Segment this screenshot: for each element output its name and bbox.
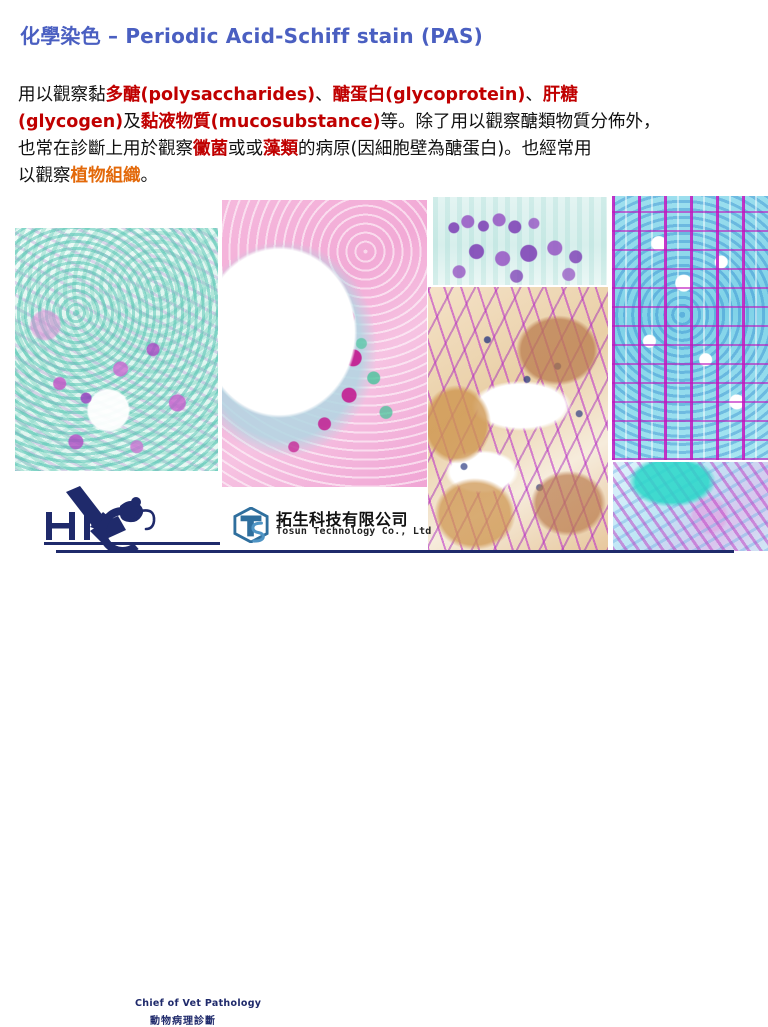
micrograph-trachea-cartilage: [222, 200, 427, 487]
hkc-tagline-zh: 動物病理診斷: [150, 1012, 216, 1027]
micrograph-intestine-goblet-cells: [433, 197, 607, 285]
micrograph-lung-mucin: [15, 228, 218, 471]
hkc-monogram-icon: [40, 486, 220, 552]
page-title: 化學染色 – Periodic Acid-Schiff stain (PAS): [20, 24, 740, 48]
body-line-2: (glycogen)及黏液物質(mucosubstance)等。除了用以觀察醣類…: [18, 109, 753, 136]
text-run-plain: 等。除了用以觀察醣類物質分佈外，: [380, 112, 660, 132]
text-run-plain: 、: [525, 85, 543, 105]
text-run-orange: 植物組織: [71, 166, 141, 186]
tosun-hexagon-ts-icon: [232, 507, 270, 543]
text-run-red: (glycogen): [18, 112, 123, 132]
tosun-technology-logo: 拓生科技有限公司 Tosun Technology Co., Ltd: [232, 503, 432, 547]
chief-of-vet-pathology-logo: Chief of Vet Pathology 動物病理診斷: [40, 486, 220, 552]
text-run-red: 黏液物質(mucosubstance): [141, 112, 381, 132]
text-run-plain: 的病原(因細胞壁為醣蛋白)。也經常用: [298, 139, 592, 159]
tosun-name-en: Tosun Technology Co., Ltd: [276, 526, 432, 537]
body-paragraph: 用以觀察黏多醣(polysaccharides)、醣蛋白(glycoprotei…: [18, 82, 753, 190]
text-run-plain: 及: [123, 112, 141, 132]
body-line-1: 用以觀察黏多醣(polysaccharides)、醣蛋白(glycoprotei…: [18, 82, 753, 109]
text-run-plain: 、: [315, 85, 333, 105]
text-run-plain: 或或: [228, 139, 263, 159]
text-run-red: 藻類: [263, 139, 298, 159]
micrograph-plant-section: [613, 462, 768, 551]
text-run-plain: 以觀察: [18, 166, 71, 186]
body-line-3: 也常在診斷上用於觀察黴菌或或藻類的病原(因細胞壁為醣蛋白)。也經常用: [18, 136, 753, 163]
micrograph-plant-cell-wall: [612, 196, 768, 460]
text-run-red: 多醣(polysaccharides): [106, 85, 316, 105]
text-run-plain: 。: [141, 166, 159, 186]
hkc-tagline-en: Chief of Vet Pathology: [135, 998, 261, 1009]
slide-canvas: 化學染色 – Periodic Acid-Schiff stain (PAS) …: [0, 0, 768, 576]
text-run-red: 肝糖: [543, 85, 578, 105]
text-run-red: 黴菌: [193, 139, 228, 159]
body-line-4: 以觀察植物組織。: [18, 163, 753, 190]
micrograph-kidney-basement-membrane: [428, 287, 608, 551]
text-run-plain: 也常在診斷上用於觀察: [18, 139, 193, 159]
text-run-red: 醣蛋白(glycoprotein): [333, 85, 526, 105]
text-run-plain: 用以觀察黏: [18, 85, 106, 105]
